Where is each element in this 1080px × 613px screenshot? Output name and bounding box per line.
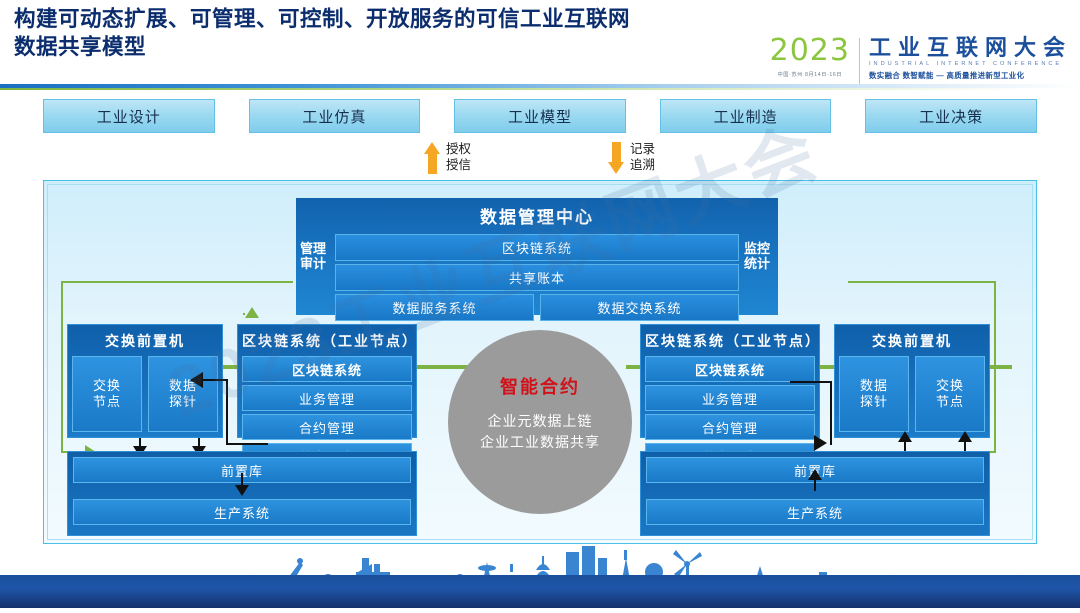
tab-industrial-decision[interactable]: 工业决策 <box>865 99 1037 133</box>
right-exchange-frontend-machine: 交换前置机 数据 探针 交换 节点 <box>834 324 990 438</box>
dc-data-service-system[interactable]: 数据服务系统 <box>335 294 534 321</box>
left-data-probe[interactable]: 数据 探针 <box>148 356 218 432</box>
right-bc-blockchain-system[interactable]: 区块链系统 <box>645 356 815 382</box>
tab-industrial-simulation[interactable]: 工业仿真 <box>249 99 421 133</box>
left-bc-contract-management[interactable]: 合约管理 <box>242 414 412 440</box>
logo-text-block: 工业互联网大会 INDUSTRIAL INTERNET CONFERENCE 数… <box>860 36 1072 81</box>
right-connector-arrow <box>814 435 827 451</box>
authorization-label-line-1: 授权 <box>446 142 471 158</box>
left-frontend-cells: 交换 节点 数据 探针 <box>72 356 218 432</box>
left-connector-arrow <box>190 372 203 388</box>
green-route-right-vertical <box>994 281 996 453</box>
green-route-right-top <box>848 281 996 283</box>
dc-service-row: 数据服务系统 数据交换系统 <box>335 294 739 321</box>
header-rule-green <box>0 88 1080 90</box>
right-frontend-cells: 数据 探针 交换 节点 <box>839 356 985 432</box>
right-production-system[interactable]: 生产系统 <box>646 499 984 525</box>
dc-data-exchange-system[interactable]: 数据交换系统 <box>540 294 739 321</box>
right-enterprise-block: 前置库 生产系统 工业企业B - 数据提供方 <box>640 451 990 536</box>
tab-gap <box>626 99 660 133</box>
right-up-arrow-2 <box>958 431 972 442</box>
green-route-left-top <box>61 281 293 283</box>
right-internal-up-arrow <box>808 469 822 480</box>
right-bc-contract-management[interactable]: 合约管理 <box>645 414 815 440</box>
right-frontend-title: 交换前置机 <box>839 329 985 356</box>
right-up-arrow-1 <box>898 431 912 442</box>
management-audit-text: 管理审计 <box>300 242 330 271</box>
authorization-flow-marker: 授权 授信 <box>424 142 471 174</box>
logo-chinese-name: 工业互联网大会 <box>869 36 1072 59</box>
smart-contract-line-1: 企业元数据上链 <box>488 411 593 432</box>
right-exchange-node[interactable]: 交换 节点 <box>915 356 985 432</box>
record-label-line-1: 记录 <box>630 142 655 158</box>
left-connector-horizontal-top <box>202 379 228 381</box>
smart-contract-circle: 智能合约 企业元数据上链 企业工业数据共享 <box>448 330 632 514</box>
record-label-line-2: 追溯 <box>630 158 655 174</box>
left-connector-vertical <box>226 381 228 445</box>
monitoring-statistics-label: 监控统计 <box>744 202 774 311</box>
logo-english-name: INDUSTRIAL INTERNET CONFERENCE <box>869 61 1072 67</box>
data-center-body: 数据管理中心 区块链系统 共享账本 数据服务系统 数据交换系统 <box>330 202 744 311</box>
authorization-label-line-2: 授信 <box>446 158 471 174</box>
tab-gap <box>420 99 454 133</box>
management-audit-label: 管理审计 <box>300 202 330 311</box>
green-arrow-up-to-data-center <box>245 307 259 318</box>
tab-industrial-model[interactable]: 工业模型 <box>454 99 626 133</box>
right-connector-horizontal-top <box>790 381 832 383</box>
left-exchange-node[interactable]: 交换 节点 <box>72 356 142 432</box>
tab-gap <box>831 99 865 133</box>
dc-shared-ledger[interactable]: 共享账本 <box>335 264 739 291</box>
tab-gap <box>215 99 249 133</box>
tab-industrial-manufacturing[interactable]: 工业制造 <box>660 99 832 133</box>
dc-blockchain-system[interactable]: 区块链系统 <box>335 234 739 261</box>
footer-water-band <box>0 575 1080 608</box>
data-management-center: 管理审计 数据管理中心 区块链系统 共享账本 数据服务系统 数据交换系统 监控统… <box>296 198 778 315</box>
left-production-system[interactable]: 生产系统 <box>73 499 411 525</box>
right-blockchain-title: 区块链系统（工业节点） <box>645 329 815 356</box>
tab-industrial-design[interactable]: 工业设计 <box>43 99 215 133</box>
green-route-left-vertical <box>61 281 63 453</box>
logo-year-block: 2023 中国·苏州 8月14日-16日 <box>770 36 859 78</box>
authorization-flow-label: 授权 授信 <box>446 142 471 173</box>
record-trace-label: 记录 追溯 <box>630 142 655 173</box>
smart-contract-line-2: 企业工业数据共享 <box>480 432 600 453</box>
monitoring-statistics-text: 监控统计 <box>744 242 774 271</box>
smart-contract-title: 智能合约 <box>500 373 580 399</box>
record-trace-flow-marker: 记录 追溯 <box>608 142 655 174</box>
right-data-probe[interactable]: 数据 探针 <box>839 356 909 432</box>
left-bc-blockchain-system[interactable]: 区块链系统 <box>242 356 412 382</box>
left-blockchain-title: 区块链系统（工业节点） <box>242 329 412 356</box>
right-bc-business-management[interactable]: 业务管理 <box>645 385 815 411</box>
footer-skyline <box>0 538 1080 608</box>
left-blockchain-industrial-node: 区块链系统（工业节点） 区块链系统 业务管理 合约管理 共享账本 <box>237 324 417 438</box>
left-frontend-title: 交换前置机 <box>72 329 218 356</box>
arrow-up-icon <box>424 142 441 174</box>
left-connector-horizontal-bottom <box>226 443 268 445</box>
logo-tagline: 数实融合 数智赋能 — 高质量推进新型工业化 <box>869 70 1072 81</box>
right-connector-vertical <box>830 381 832 445</box>
page-title-line-2: 数据共享模型 <box>14 34 794 62</box>
logo-year: 2023 <box>770 36 850 66</box>
left-bc-business-management[interactable]: 业务管理 <box>242 385 412 411</box>
data-center-title: 数据管理中心 <box>335 202 739 231</box>
left-internal-down-arrow <box>235 485 249 496</box>
logo-date: 中国·苏州 8月14日-16日 <box>770 71 850 78</box>
page-title: 构建可动态扩展、可管理、可控制、开放服务的可信工业互联网 数据共享模型 <box>14 6 794 62</box>
page-title-line-1: 构建可动态扩展、可管理、可控制、开放服务的可信工业互联网 <box>14 6 794 34</box>
industry-stage-tabs: 工业设计 工业仿真 工业模型 工业制造 工业决策 <box>43 99 1037 133</box>
arrow-down-icon <box>608 142 625 174</box>
